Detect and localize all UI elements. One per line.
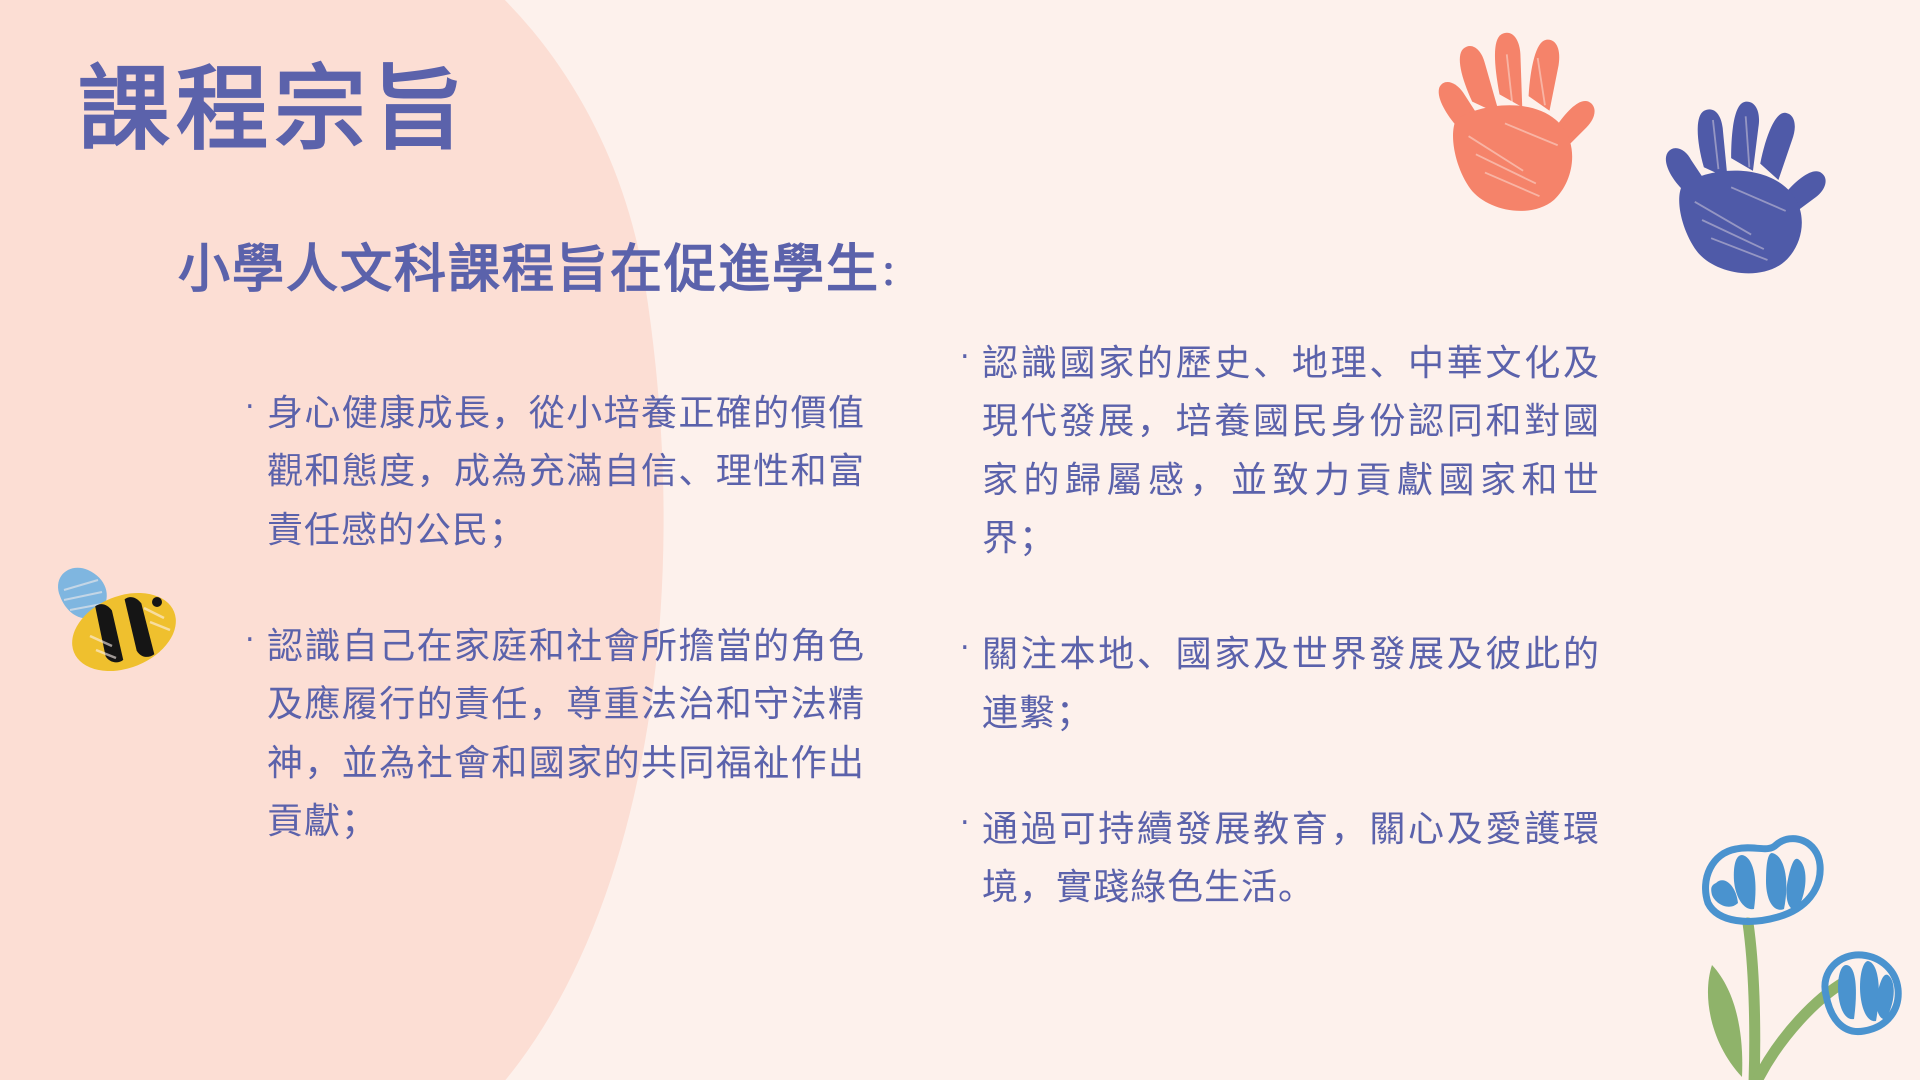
hand-print-blue-icon <box>1655 80 1840 280</box>
list-item: ‧ 通過可持續發展教育，關心及愛護環境，實踐綠色生活。 <box>960 800 1600 917</box>
page-subtitle: 小學人文科課程旨在促進學生： <box>178 227 914 302</box>
slide-canvas: 課程宗旨 小學人文科課程旨在促進學生： ‧ 身心健康成長，從小培養正確的價值觀和… <box>0 0 1920 1080</box>
bullet-column-right: ‧ 認識國家的歷史、地理、中華文化及現代發展，培養國民身份認同和對國家的歸屬感，… <box>960 334 1600 917</box>
list-item-text: 身心健康成長，從小培養正確的價值觀和態度，成為充滿自信、理性和富責任感的公民； <box>267 384 865 559</box>
list-item: ‧ 關注本地、國家及世界發展及彼此的連繫； <box>960 625 1600 742</box>
hand-print-coral-icon <box>1427 18 1612 218</box>
bullet-dot-icon: ‧ <box>960 800 982 849</box>
bullet-dot-icon: ‧ <box>245 384 267 433</box>
flower-illustration-icon <box>1650 805 1920 1080</box>
list-item-text: 認識自己在家庭和社會所擔當的角色及應履行的責任，尊重法治和守法精神，並為社會和國… <box>267 617 865 850</box>
list-item: ‧ 身心健康成長，從小培養正確的價值觀和態度，成為充滿自信、理性和富責任感的公民… <box>245 384 865 559</box>
bullet-column-left: ‧ 身心健康成長，從小培養正確的價值觀和態度，成為充滿自信、理性和富責任感的公民… <box>245 384 865 850</box>
bee-illustration-icon <box>40 552 200 692</box>
bullet-dot-icon: ‧ <box>960 625 982 674</box>
list-item: ‧ 認識國家的歷史、地理、中華文化及現代發展，培養國民身份認同和對國家的歸屬感，… <box>960 334 1600 567</box>
list-item: ‧ 認識自己在家庭和社會所擔當的角色及應履行的責任，尊重法治和守法精神，並為社會… <box>245 617 865 850</box>
bullet-dot-icon: ‧ <box>245 617 267 666</box>
subtitle-colon: ： <box>880 255 914 293</box>
list-item-text: 通過可持續發展教育，關心及愛護環境，實踐綠色生活。 <box>982 800 1600 917</box>
bullet-dot-icon: ‧ <box>960 334 982 383</box>
list-item-text: 關注本地、國家及世界發展及彼此的連繫； <box>982 625 1600 742</box>
subtitle-text: 小學人文科課程旨在促進學生 <box>178 241 880 299</box>
list-item-text: 認識國家的歷史、地理、中華文化及現代發展，培養國民身份認同和對國家的歸屬感，並致… <box>982 334 1600 567</box>
page-title: 課程宗旨 <box>78 62 470 159</box>
